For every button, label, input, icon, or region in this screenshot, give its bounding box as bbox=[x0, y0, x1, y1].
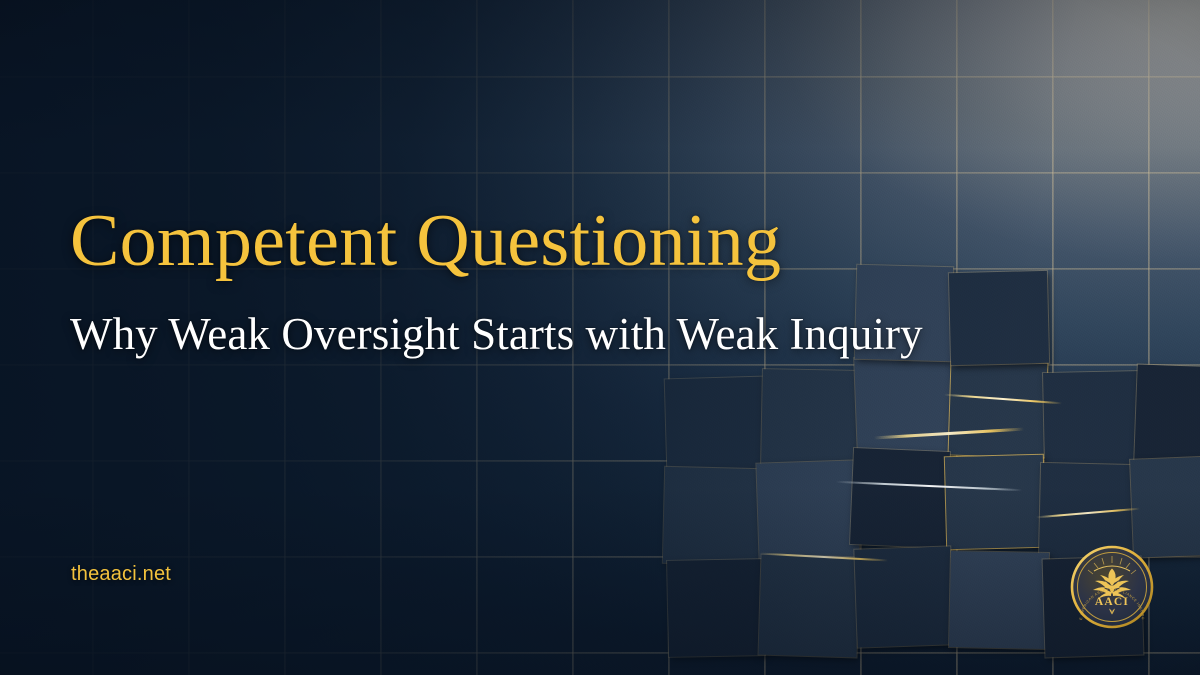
svg-text:AACI: AACI bbox=[1095, 596, 1129, 608]
site-url-label[interactable]: theaaci.net bbox=[71, 563, 171, 586]
slide-content: Competent Questioning Why Weak Oversight… bbox=[0, 0, 1200, 675]
title-card-slide: Competent Questioning Why Weak Oversight… bbox=[0, 0, 1200, 675]
page-title: Competent Questioning bbox=[70, 203, 781, 280]
aaci-seal-logo[interactable]: AACI THE AMERICAN ASSET COMPLIANCE INSTI… bbox=[1068, 543, 1156, 631]
page-subtitle: Why Weak Oversight Starts with Weak Inqu… bbox=[70, 310, 923, 360]
